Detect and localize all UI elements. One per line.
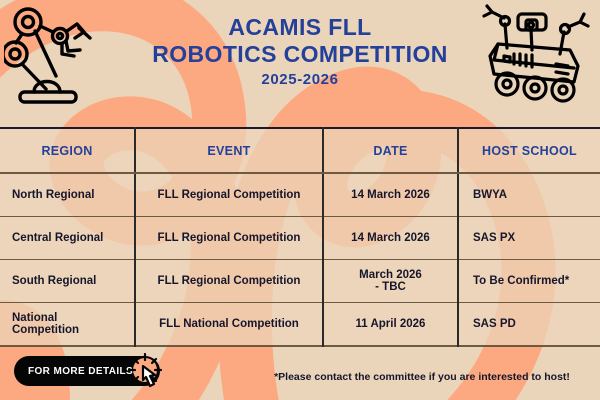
cell-date: 14 March 2026: [323, 173, 458, 217]
table-row: North Regional FLL Regional Competition …: [0, 173, 600, 217]
cell-region: National Competition: [0, 303, 135, 347]
host-contact-footnote: *Please contact the committee if you are…: [250, 371, 594, 383]
cell-event: FLL Regional Competition: [135, 217, 323, 260]
poster-canvas: ACAMIS FLL ROBOTICS COMPETITION 2025-202…: [0, 0, 600, 400]
cell-region: Central Regional: [0, 217, 135, 260]
table-row: Central Regional FLL Regional Competitio…: [0, 217, 600, 260]
for-more-details-label: FOR MORE DETAILS: [28, 366, 133, 377]
table-header-row: REGION EVENT DATE HOST SCHOOL: [0, 128, 600, 173]
cell-date: 14 March 2026: [323, 217, 458, 260]
cell-date: 11 April 2026: [323, 303, 458, 347]
column-header-date: DATE: [323, 128, 458, 173]
cell-region: South Regional: [0, 260, 135, 303]
cell-date: March 2026 - TBC: [323, 260, 458, 303]
column-header-event: EVENT: [135, 128, 323, 173]
table-row: National Competition FLL National Compet…: [0, 303, 600, 347]
page-title-line-1: ACAMIS FLL: [0, 14, 600, 41]
cell-host-school: To Be Confirmed*: [458, 260, 600, 303]
cell-event: FLL National Competition: [135, 303, 323, 347]
page-title-years: 2025-2026: [0, 71, 600, 89]
competition-schedule-table: REGION EVENT DATE HOST SCHOOL North Regi…: [0, 127, 600, 347]
column-header-host-school: HOST SCHOOL: [458, 128, 600, 173]
click-burst-cursor-icon[interactable]: [124, 352, 170, 400]
cell-host-school: BWYA: [458, 173, 600, 217]
cell-host-school: SAS PX: [458, 217, 600, 260]
poster-title-block: ACAMIS FLL ROBOTICS COMPETITION 2025-202…: [0, 14, 600, 89]
cell-region: North Regional: [0, 173, 135, 217]
cell-host-school: SAS PD: [458, 303, 600, 347]
page-title-line-2: ROBOTICS COMPETITION: [0, 41, 600, 68]
cell-event: FLL Regional Competition: [135, 260, 323, 303]
column-header-region: REGION: [0, 128, 135, 173]
table-row: South Regional FLL Regional Competition …: [0, 260, 600, 303]
cell-event: FLL Regional Competition: [135, 173, 323, 217]
